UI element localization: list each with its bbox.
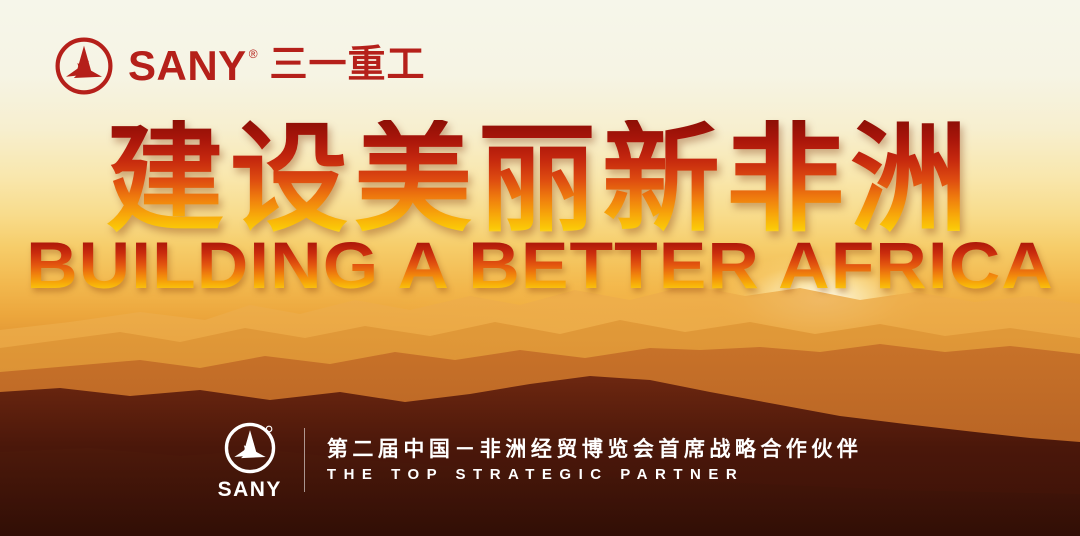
brand-wordmark: SANY <box>128 45 247 87</box>
header-logo: SANY ® 三一重工 <box>54 36 426 96</box>
footer-divider <box>304 428 305 492</box>
footer-chinese-line: 第二届中国－非洲经贸博览会首席战略合作伙伴 <box>327 439 863 460</box>
footer-logo: SANY <box>218 420 282 500</box>
footer-logo-wordmark: SANY <box>218 479 282 500</box>
sany-triskelion-logo-icon <box>54 36 114 96</box>
footer-banner: SANY 第二届中国－非洲经贸博览会首席战略合作伙伴 THE TOP STRAT… <box>0 420 1080 500</box>
poster-canvas: SANY ® 三一重工 建设美丽新非洲 BUILDING A BETTER AF… <box>0 0 1080 536</box>
footer-text-block: 第二届中国－非洲经贸博览会首席战略合作伙伴 THE TOP STRATEGIC … <box>327 439 863 482</box>
registered-mark-icon: ® <box>249 48 258 60</box>
footer-english-line: THE TOP STRATEGIC PARTNER <box>327 467 863 482</box>
header-wordmark: SANY ® 三一重工 <box>128 45 426 87</box>
sany-triskelion-logo-icon <box>222 420 278 476</box>
brand-chinese-name: 三一重工 <box>270 45 426 83</box>
